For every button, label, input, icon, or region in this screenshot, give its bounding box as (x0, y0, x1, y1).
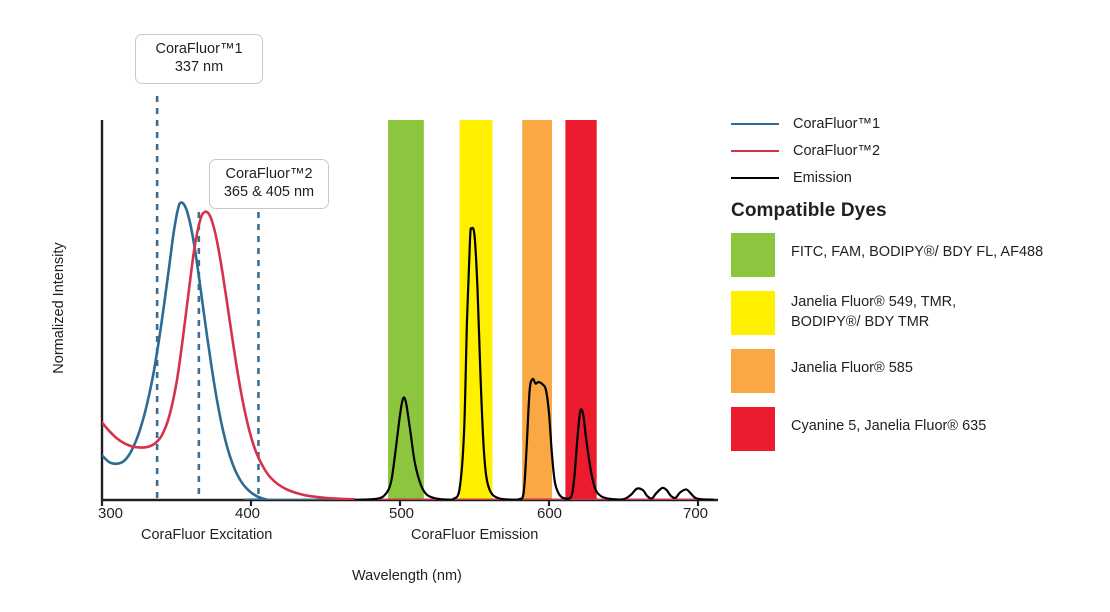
dye-item-label: Janelia Fluor® 585 (791, 349, 913, 379)
legend-item-2: Emission (731, 164, 1091, 191)
dye-item-2: Janelia Fluor® 585 (731, 349, 1101, 393)
callout-corafluor2-value: 365 & 405 nm (220, 184, 318, 202)
dye-color-swatch (731, 291, 775, 335)
callout-corafluor1-title: CoraFluor™1 (146, 41, 252, 59)
callout-corafluor2-title: CoraFluor™2 (220, 166, 318, 184)
chart-root: CoraFluor™1 337 nm CoraFluor™2 365 & 405… (0, 0, 1110, 612)
legend-item-label: CoraFluor™1 (793, 116, 880, 132)
compatible-dyes-heading: Compatible Dyes (731, 200, 887, 222)
dye-item-3: Cyanine 5, Janelia Fluor® 635 (731, 407, 1101, 451)
green-band (388, 120, 424, 500)
x-tick-400: 400 (235, 505, 260, 522)
legend-line-swatch (731, 123, 779, 125)
excitation-region-label: CoraFluor Excitation (141, 527, 272, 543)
dye-item-label: FITC, FAM, BODIPY®/ BDY FL, AF488 (791, 233, 1043, 263)
compatible-dyes-list: FITC, FAM, BODIPY®/ BDY FL, AF488Janelia… (731, 233, 1101, 465)
x-tick-700: 700 (683, 505, 708, 522)
callout-corafluor1-value: 337 nm (146, 59, 252, 77)
x-axis-title: Wavelength (nm) (352, 568, 462, 584)
legend-item-1: CoraFluor™2 (731, 137, 1091, 164)
dye-item-label: Janelia Fluor® 549, TMR,BODIPY®/ BDY TMR (791, 291, 956, 332)
x-tick-600: 600 (537, 505, 562, 522)
legend-line-swatch (731, 150, 779, 152)
callout-corafluor1: CoraFluor™1 337 nm (135, 34, 263, 84)
dye-color-swatch (731, 233, 775, 277)
callout-corafluor2: CoraFluor™2 365 & 405 nm (209, 159, 329, 209)
x-tick-500: 500 (389, 505, 414, 522)
dye-item-label: Cyanine 5, Janelia Fluor® 635 (791, 407, 986, 437)
legend-line-swatch (731, 177, 779, 179)
dye-item-1: Janelia Fluor® 549, TMR,BODIPY®/ BDY TMR (731, 291, 1101, 335)
dye-item-0: FITC, FAM, BODIPY®/ BDY FL, AF488 (731, 233, 1101, 277)
dye-color-swatch (731, 407, 775, 451)
red-band (565, 120, 596, 500)
dye-color-swatch (731, 349, 775, 393)
legend-item-0: CoraFluor™1 (731, 110, 1091, 137)
legend-item-label: Emission (793, 170, 852, 186)
emission-region-label: CoraFluor Emission (411, 527, 538, 543)
series-legend: CoraFluor™1CoraFluor™2Emission (731, 110, 1091, 191)
y-axis-title: Normalized Intensity (51, 228, 67, 388)
legend-item-label: CoraFluor™2 (793, 143, 880, 159)
x-tick-300: 300 (98, 505, 123, 522)
